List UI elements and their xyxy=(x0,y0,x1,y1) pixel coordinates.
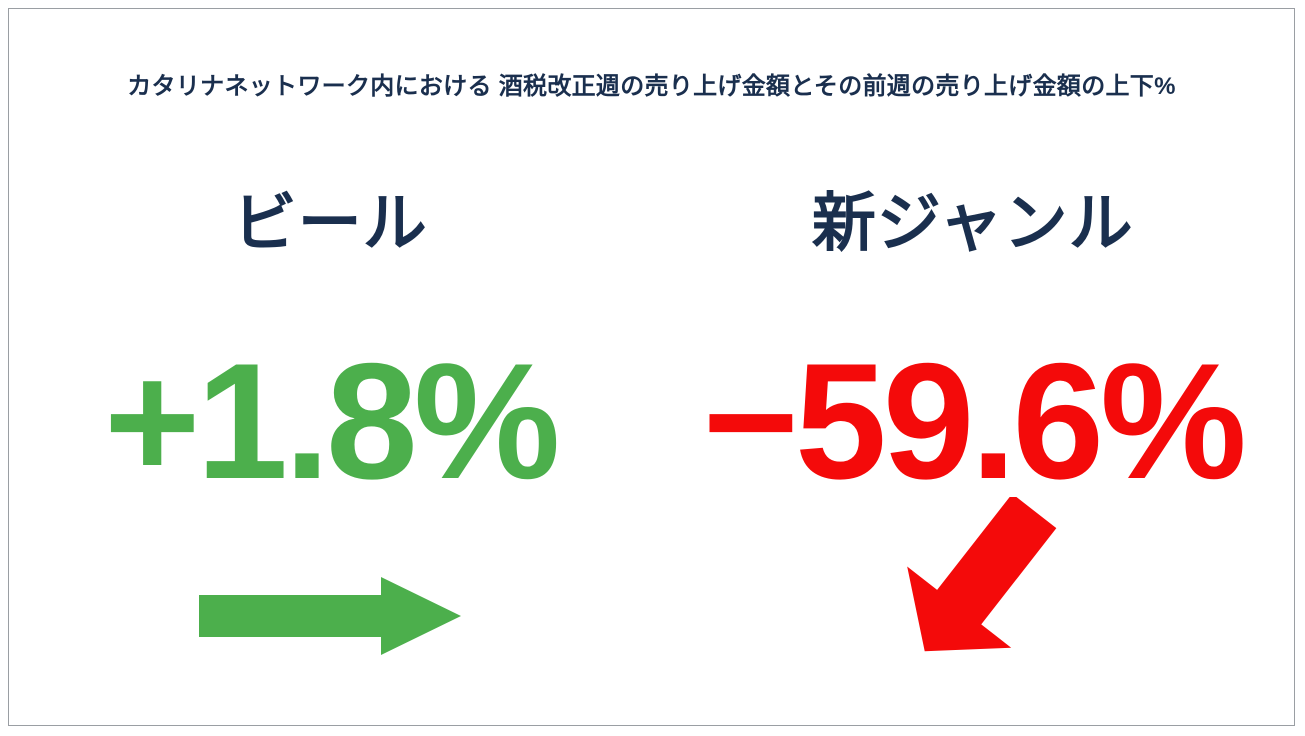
metric-card-new-genre: 新ジャンル −59.6% xyxy=(652,159,1295,699)
metric-value-beer: +1.8% xyxy=(9,339,652,504)
arrow-right-icon xyxy=(199,577,461,655)
slide-frame: カタリナネットワーク内における 酒税改正週の売り上げ金額とその前週の売り上げ金額… xyxy=(8,8,1295,726)
page-title: カタリナネットワーク内における 酒税改正週の売り上げ金額とその前週の売り上げ金額… xyxy=(9,73,1294,102)
metric-card-beer: ビール +1.8% xyxy=(9,159,652,699)
metrics-row: ビール +1.8% 新ジャンル −59.6% xyxy=(9,159,1294,699)
metric-arrow-new-genre-wrap xyxy=(652,489,1295,689)
metric-value-new-genre: −59.6% xyxy=(652,339,1295,504)
metric-label-beer: ビール xyxy=(9,191,652,255)
arrow-down-right-icon xyxy=(906,497,1066,675)
metric-label-new-genre: 新ジャンル xyxy=(652,191,1295,255)
metric-arrow-beer-wrap xyxy=(9,489,652,689)
